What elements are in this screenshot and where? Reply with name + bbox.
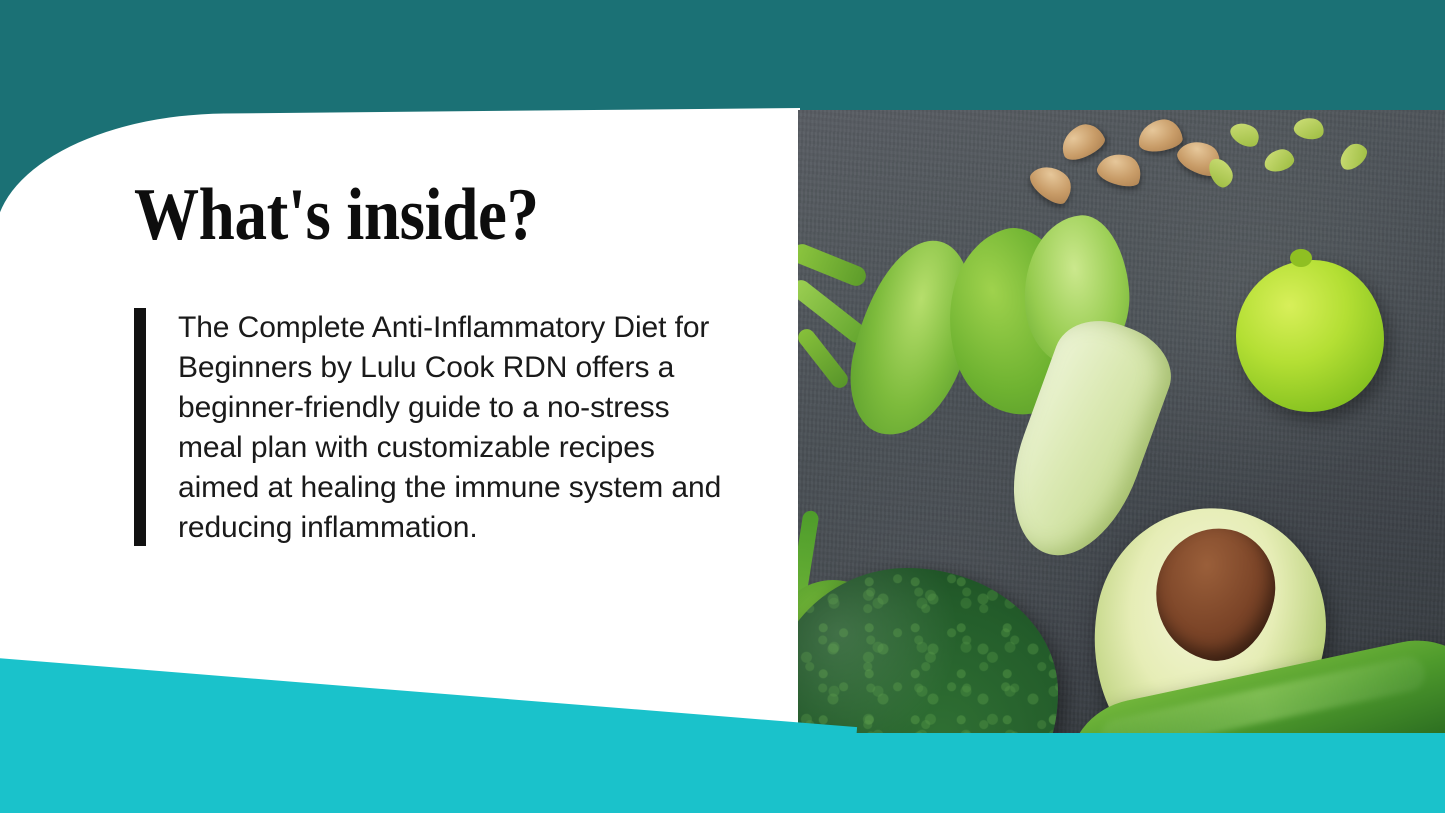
body-paragraph: The Complete Anti-Inflammatory Diet for … [146, 308, 723, 548]
text-content-area: What's inside? The Complete Anti-Inflamm… [0, 0, 798, 813]
page-title: What's inside? [134, 178, 539, 252]
slide-canvas: What's inside? The Complete Anti-Inflamm… [0, 0, 1445, 813]
healthy-food-flat-lay-photo [798, 110, 1445, 733]
quote-block: The Complete Anti-Inflammatory Diet for … [134, 308, 734, 548]
quote-accent-bar [134, 308, 146, 546]
